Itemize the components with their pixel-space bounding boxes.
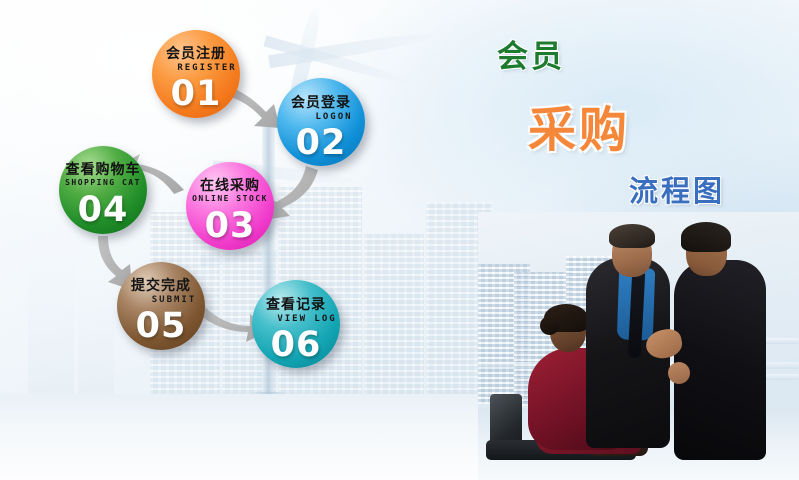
business-photo	[478, 212, 799, 480]
standing-man-right-body	[674, 260, 766, 460]
step-number: 02	[277, 123, 365, 163]
member-purchase-flow-banner: 会员 采购 流程图 会员注册 REGISTER 01 会员登录 LOGON 02…	[0, 0, 799, 480]
step-logon[interactable]: 会员登录 LOGON 02	[277, 78, 365, 166]
step-submit[interactable]: 提交完成 SUBMIT 05	[117, 262, 205, 350]
step-shopping-cart[interactable]: 查看购物车 SHOPPING CAT 04	[59, 146, 147, 234]
step-label-cn: 提交完成	[117, 275, 205, 295]
step-label-cn: 在线采购	[186, 175, 274, 195]
step-label-cn: 会员注册	[152, 43, 240, 63]
step-label-cn: 查看购物车	[59, 159, 147, 179]
background-building	[364, 234, 424, 402]
step-number: 04	[59, 190, 147, 230]
background-building	[78, 282, 114, 402]
step-number: 03	[186, 206, 274, 246]
step-label-cn: 查看记录	[252, 294, 340, 314]
step-online-stock[interactable]: 在线采购 ONLINE STOCK 03	[186, 162, 274, 250]
step-label-en: ONLINE STOCK	[186, 194, 274, 203]
step-label-cn: 会员登录	[277, 92, 365, 112]
step-label-en: VIEW LOG	[252, 314, 340, 324]
step-label-en: SHOPPING CAT	[59, 178, 147, 187]
seated-woman-hair-bun	[540, 316, 559, 335]
background-building	[28, 252, 74, 402]
title-purchase: 采购	[528, 90, 630, 160]
step-number: 06	[252, 325, 340, 365]
standing-man-right-hair	[681, 222, 731, 252]
step-number: 05	[117, 306, 205, 346]
step-label-en: LOGON	[277, 112, 365, 122]
standing-man-right-hand	[668, 362, 690, 384]
title-member: 会员	[497, 31, 565, 76]
title-flowchart: 流程图	[629, 168, 725, 210]
step-label-en: SUBMIT	[117, 295, 205, 305]
step-number: 01	[152, 74, 240, 114]
step-view-log[interactable]: 查看记录 VIEW LOG 06	[252, 280, 340, 368]
step-register[interactable]: 会员注册 REGISTER 01	[152, 30, 240, 118]
step-label-en: REGISTER	[152, 63, 240, 73]
standing-man-left-hair	[609, 224, 655, 248]
